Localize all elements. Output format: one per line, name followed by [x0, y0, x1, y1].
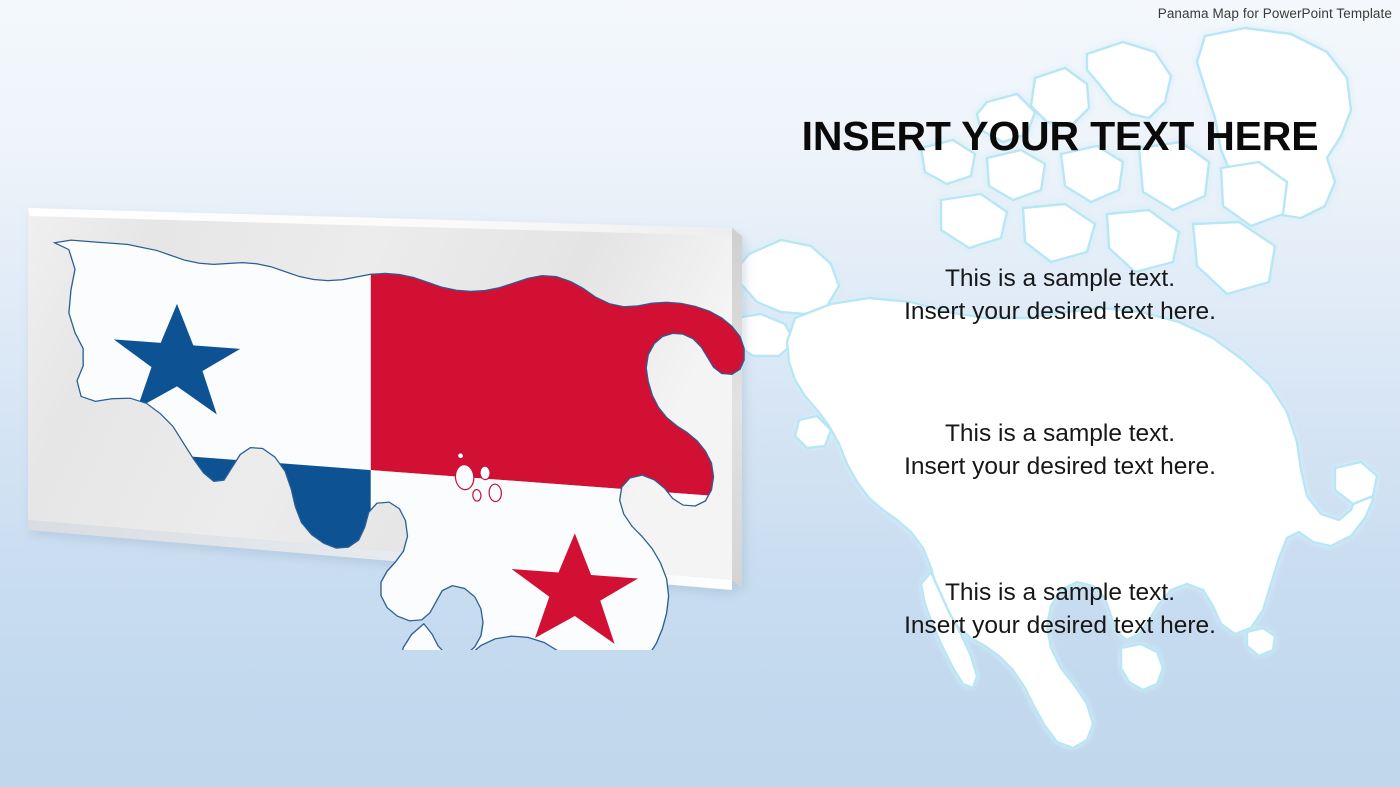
text-block-3[interactable]: This is a sample text. Insert your desir…: [760, 577, 1360, 643]
text-block-1[interactable]: This is a sample text. Insert your desir…: [760, 263, 1360, 329]
text-block-2[interactable]: This is a sample text. Insert your desir…: [760, 418, 1360, 484]
header-caption: Panama Map for PowerPoint Template: [1158, 6, 1392, 21]
text-content-column: INSERT YOUR TEXT HERE This is a sample t…: [760, 115, 1360, 158]
text-block-1-line-2: Insert your desired text here.: [760, 296, 1360, 329]
slide-canvas: INSERT YOUR TEXT HERE This is a sample t…: [0, 0, 1400, 787]
text-block-3-line-1: This is a sample text.: [760, 577, 1360, 610]
page-title[interactable]: INSERT YOUR TEXT HERE: [760, 115, 1360, 158]
text-block-2-line-1: This is a sample text.: [760, 418, 1360, 451]
panama-flag-map-panel[interactable]: [20, 180, 760, 650]
text-block-1-line-1: This is a sample text.: [760, 263, 1360, 296]
text-block-3-line-2: Insert your desired text here.: [760, 610, 1360, 643]
text-block-2-line-2: Insert your desired text here.: [760, 451, 1360, 484]
